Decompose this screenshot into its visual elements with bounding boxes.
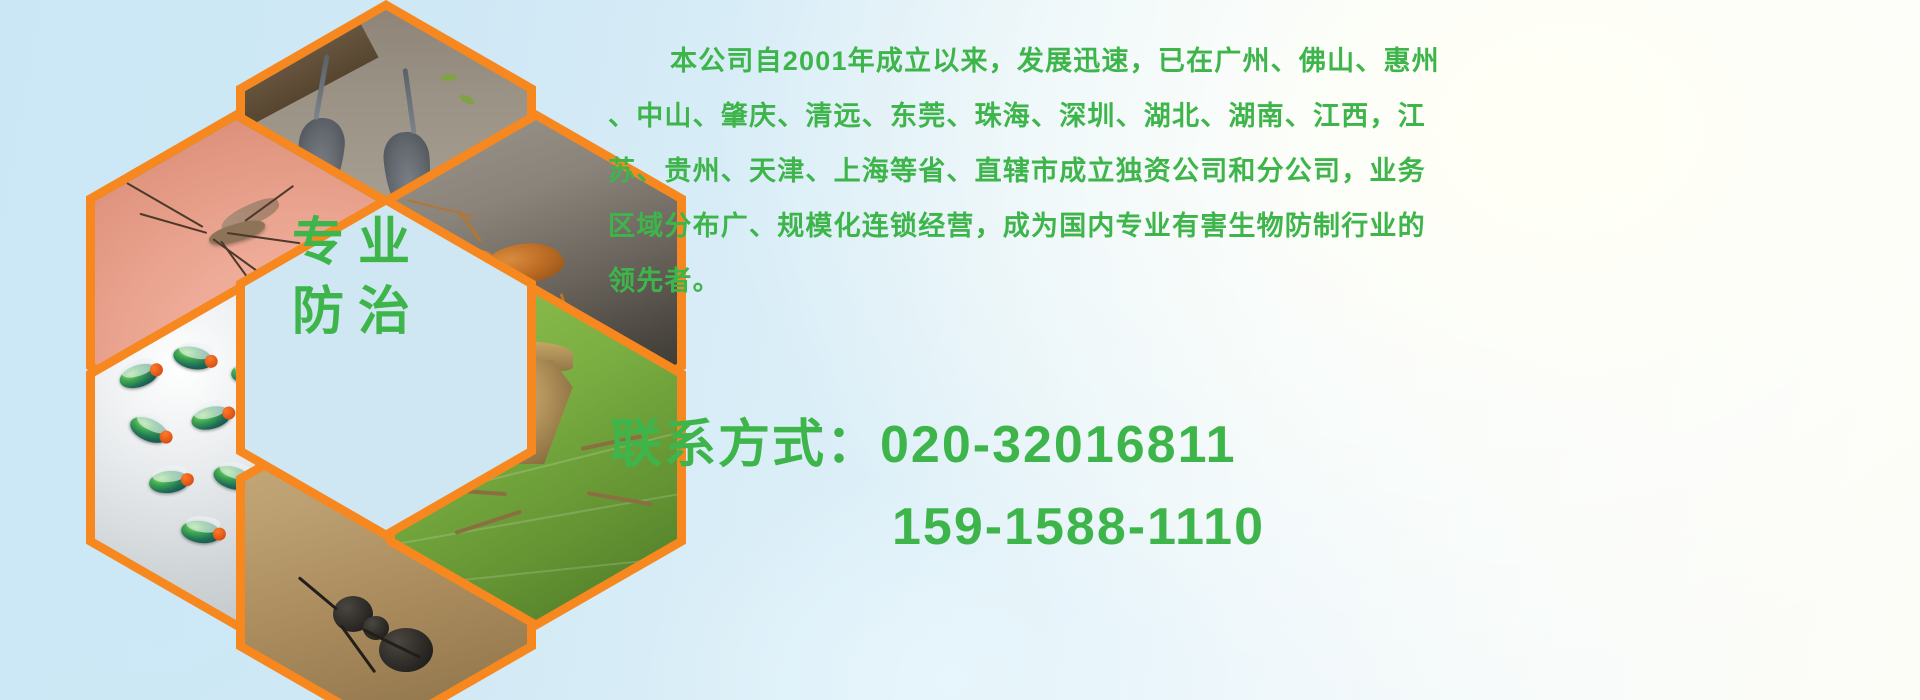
logo-slogan-line2: 防治 xyxy=(278,285,424,340)
logo-slogan-line1: 专业 xyxy=(278,216,424,271)
intro-line-5: 领先者。 xyxy=(608,254,1908,309)
intro-line-3: 苏、贵州、天津、上海等省、直辖市成立独资公司和分公司，业务 xyxy=(608,144,1908,199)
intro-line-4: 区域分布广、规模化连锁经营，成为国内专业有害生物防制行业的 xyxy=(608,199,1908,254)
intro-line-1: 本公司自2001年成立以来，发展迅速，已在广州、佛山、惠州 xyxy=(608,34,1908,89)
banner-stage: 专业 防治 本公司自2001年成立以来，发展迅速，已在广州、佛山、惠州 、中山、… xyxy=(0,0,1920,700)
contact-block: 联系方式：020-32016811 159-1588-1110 xyxy=(610,404,1920,568)
honeycomb-logo: 专业 防治 xyxy=(86,0,606,580)
contact-landline[interactable]: 联系方式：020-32016811 xyxy=(610,404,1920,486)
contact-mobile[interactable]: 159-1588-1110 xyxy=(610,486,1920,568)
logo-slogan: 专业 防治 xyxy=(236,138,466,418)
intro-line-2: 、中山、肇庆、清远、东莞、珠海、深圳、湖北、湖南、江西，江 xyxy=(608,89,1908,144)
intro-paragraph: 本公司自2001年成立以来，发展迅速，已在广州、佛山、惠州 、中山、肇庆、清远、… xyxy=(608,34,1908,309)
